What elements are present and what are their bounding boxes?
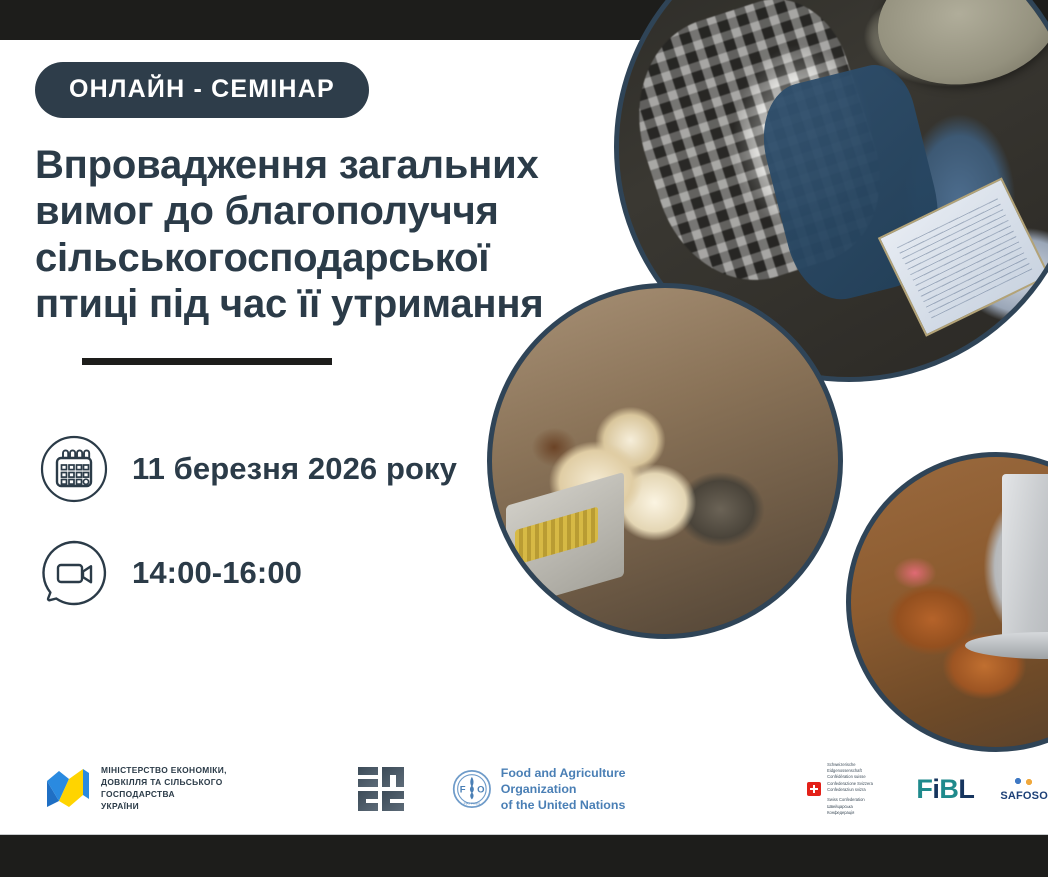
- fibl-logo: FiBL: [916, 774, 974, 805]
- fao-emblem-icon: F O FIAT PANIS: [452, 766, 492, 812]
- fao-logo: F O FIAT PANIS Food and Agriculture Orga…: [452, 765, 677, 813]
- svg-text:O: O: [477, 784, 484, 795]
- dpss-logo: [356, 763, 408, 815]
- swiss-line-de: Schweizerische Eidgenossenschaft: [827, 762, 880, 775]
- event-time-row: 14:00-16:00: [38, 537, 620, 609]
- partner-logos: МІНІСТЕРСТВО ЕКОНОМІКИ, ДОВКІЛЛЯ ТА СІЛЬ…: [0, 753, 1048, 825]
- fibl-letter-i: i: [932, 774, 939, 805]
- ministry-m-mark: [45, 767, 91, 811]
- swiss-cross-icon: [807, 782, 821, 796]
- fibl-letter-b: B: [939, 774, 958, 805]
- swiss-logo-text: Schweizerische Eidgenossenschaft Confédé…: [827, 762, 880, 817]
- video-call-icon: [38, 537, 110, 609]
- swiss-confederation-logo: Schweizerische Eidgenossenschaft Confédé…: [807, 762, 880, 817]
- metal-feeder-detail: [1002, 474, 1048, 642]
- fibl-letter-f: F: [916, 774, 932, 805]
- safoso-dots-icon: [1013, 776, 1035, 787]
- event-type-badge: ОНЛАЙН - СЕМІНАР: [35, 62, 369, 118]
- fibl-letter-l: L: [958, 774, 974, 805]
- event-time-value: 14:00-16:00: [132, 555, 302, 591]
- banner-content: ОНЛАЙН - СЕМІНАР Впровадження загальних …: [0, 40, 620, 641]
- title-divider: [82, 358, 332, 365]
- ministry-line-1: МІНІСТЕРСТВО ЕКОНОМІКИ,: [101, 765, 266, 777]
- fao-line-1: Food and Agriculture Organization: [501, 765, 677, 797]
- webinar-announcement-banner: ОНЛАЙН - СЕМІНАР Впровадження загальних …: [0, 0, 1048, 877]
- svg-text:F: F: [460, 784, 466, 795]
- hens-at-feeder-photo: [846, 452, 1048, 752]
- ministry-line-2: ДОВКІЛЛЯ ТА СІЛЬСЬКОГО ГОСПОДАРСТВА: [101, 777, 266, 801]
- event-details-list: 11 березня 2026 року 14:00-16:00: [38, 433, 620, 609]
- event-date-value: 11 березня 2026 року: [132, 451, 457, 487]
- safoso-label: SAFOSO: [1000, 790, 1048, 802]
- ministry-logo-text: МІНІСТЕРСТВО ЕКОНОМІКИ, ДОВКІЛЛЯ ТА СІЛЬ…: [101, 765, 266, 813]
- calendar-icon: [38, 433, 110, 505]
- fao-motto: FIAT PANIS: [464, 802, 480, 806]
- bottom-dark-bar: [0, 835, 1048, 877]
- dpss-monogram-mark: [356, 763, 408, 815]
- safoso-logo: SAFOSO: [1000, 776, 1048, 802]
- swiss-line-uk: Швейцарська Конфедерація: [827, 804, 880, 817]
- ministry-line-3: УКРАЇНИ: [101, 801, 266, 813]
- fao-line-2: of the United Nations: [501, 797, 677, 813]
- event-date-row: 11 березня 2026 року: [38, 433, 620, 505]
- hens-photo-image: [851, 457, 1048, 747]
- ministry-of-economy-logo: МІНІСТЕРСТВО ЕКОНОМІКИ, ДОВКІЛЛЯ ТА СІЛЬ…: [45, 765, 266, 813]
- fao-logo-text: Food and Agriculture Organization of the…: [501, 765, 677, 813]
- webinar-title: Впровадження загальних вимог до благопол…: [35, 142, 595, 328]
